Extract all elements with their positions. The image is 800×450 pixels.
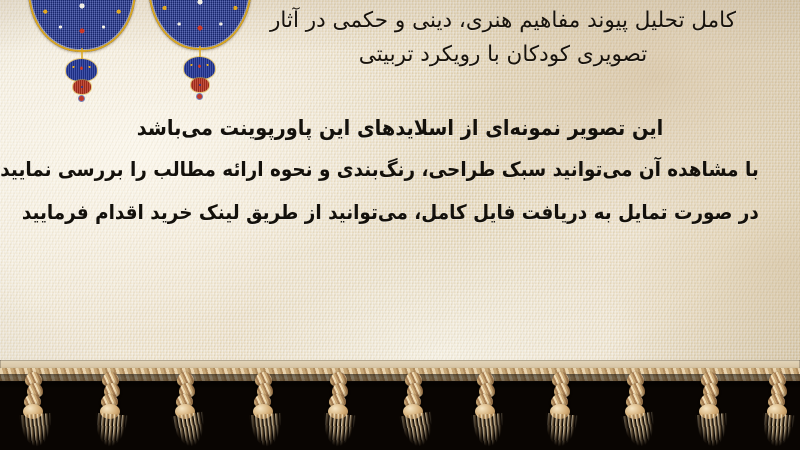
fringe-tassel bbox=[95, 372, 129, 446]
carpet-fringe-border bbox=[0, 360, 800, 450]
fringe-tassel bbox=[694, 372, 728, 446]
tassel-threads bbox=[320, 413, 357, 450]
fringe-tassel bbox=[170, 372, 204, 446]
presentation-slide: کامل تحلیل پیوند مفاهیم هنری، دینی و حکم… bbox=[0, 0, 800, 450]
fringe-tassel bbox=[398, 372, 432, 446]
fringe-tassel bbox=[18, 372, 52, 446]
tassel-threads bbox=[398, 411, 437, 450]
fringe-tassel bbox=[323, 372, 357, 446]
slide-title: کامل تحلیل پیوند مفاهیم هنری، دینی و حکم… bbox=[220, 4, 786, 72]
tassel-threads bbox=[170, 411, 209, 450]
fringe-tassel bbox=[620, 372, 654, 446]
slide-body-text: این تصویر نمونه‌ای از اسلایدهای این پاور… bbox=[10, 110, 790, 234]
body-line-sample-notice: این تصویر نمونه‌ای از اسلایدهای این پاور… bbox=[41, 110, 759, 147]
fringe-tassel bbox=[470, 372, 504, 446]
slide-title-line-2: تصویری کودکان با رویکرد تربیتی bbox=[220, 38, 786, 72]
fringe-tassel bbox=[545, 372, 579, 446]
body-line-purchase-link: در صورت تمایل به دریافت فایل کامل، می‌تو… bbox=[41, 191, 759, 234]
tassel-threads bbox=[248, 413, 284, 449]
fringe-tassel bbox=[762, 372, 796, 446]
tassel-threads bbox=[542, 413, 579, 450]
tassel-threads bbox=[470, 413, 506, 449]
tassel-threads bbox=[18, 413, 54, 449]
tassel-threads bbox=[694, 413, 730, 449]
slide-title-line-1: کامل تحلیل پیوند مفاهیم هنری، دینی و حکم… bbox=[220, 4, 786, 38]
tassel-threads bbox=[620, 411, 659, 450]
fringe-tassel bbox=[248, 372, 282, 446]
body-line-design-review: با مشاهده آن می‌توانید سبک طراحی، رنگ‌بن… bbox=[41, 147, 759, 191]
tassel-threads bbox=[92, 413, 129, 450]
tassel-threads bbox=[759, 413, 796, 450]
